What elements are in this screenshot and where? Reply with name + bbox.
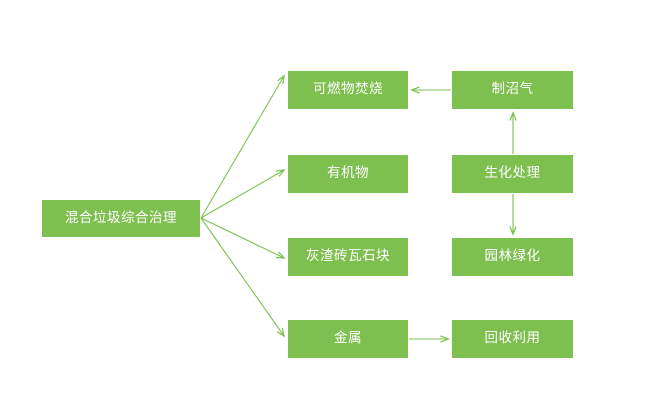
node-landscaping[interactable]: 园林绿化 [452, 238, 573, 276]
edge-root-to-metal [201, 218, 284, 336]
diagram-canvas: 混合垃圾综合治理 可燃物焚烧 有机物 灰渣砖瓦石块 金属 制沼气 生化处理 园林… [0, 0, 648, 416]
node-metal[interactable]: 金属 [288, 320, 408, 358]
node-combustible-incineration[interactable]: 可燃物焚烧 [288, 71, 408, 109]
node-organic-matter[interactable]: 有机物 [288, 155, 408, 193]
node-ash-bricks-tiles-stone[interactable]: 灰渣砖瓦石块 [288, 238, 408, 276]
node-biochemical-treatment[interactable]: 生化处理 [452, 155, 573, 193]
edge-root-to-ash [201, 218, 284, 258]
edge-root-to-combustible [201, 76, 284, 218]
node-mixed-waste-treatment[interactable]: 混合垃圾综合治理 [42, 200, 200, 237]
edge-root-to-organic [201, 170, 284, 218]
node-biogas-production[interactable]: 制沼气 [452, 71, 573, 109]
node-recycling-reuse[interactable]: 回收利用 [452, 320, 573, 358]
